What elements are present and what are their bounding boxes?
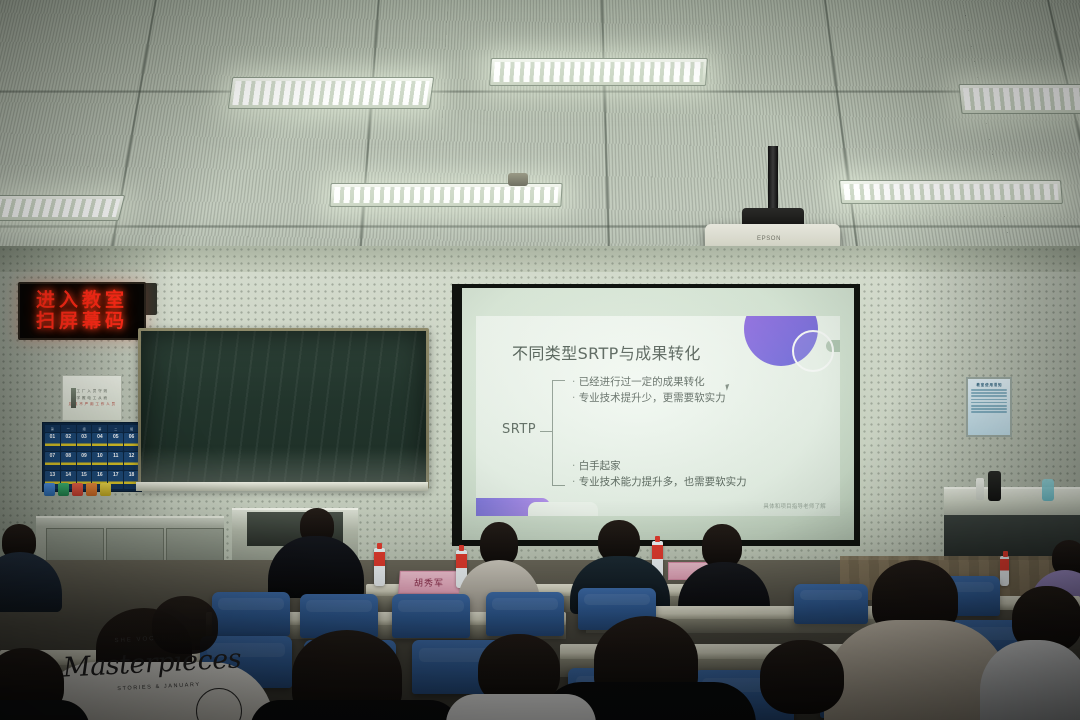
- smoke-detector-icon: [508, 173, 528, 186]
- pocket-header-cell: 一: [61, 425, 76, 432]
- pocket-slot: 06: [124, 433, 139, 451]
- wall-notice-board: 教 室 使 用 须 知: [966, 377, 1012, 437]
- name-card: 胡秀军: [398, 571, 460, 594]
- bottle-yellow: [100, 483, 111, 496]
- ceiling-light-5: [329, 183, 562, 207]
- classroom-chair[interactable]: [794, 584, 868, 624]
- projection-screen: 不同类型SRTP与成果转化 SRTP 已经进行过一定的成果转化 专业技术提升少，…: [462, 288, 854, 540]
- water-bottle: [374, 548, 385, 586]
- slide-brace: [552, 380, 565, 486]
- pocket-slot: 09: [77, 452, 92, 470]
- blackboard-frame: [138, 328, 429, 489]
- bottle-blue: [44, 483, 55, 496]
- pocket-slot: 05: [108, 433, 123, 451]
- pocket-chart-row: 01 02 03 04 05 06: [45, 433, 139, 451]
- notice-line: [971, 395, 1007, 397]
- pocket-slot: 03: [77, 433, 92, 451]
- poster-line-1: 工 厂 入 员 守 则: [77, 388, 108, 395]
- pocket-slot: 07: [45, 452, 60, 470]
- led-scroll-sign: 进入教室 扫屏幕码: [18, 282, 146, 340]
- ceiling-light-6: [839, 180, 1063, 204]
- wall-poster-small: 工 厂 入 员 守 则 学 照 电 工 从 而 见 其 不 严 用 工 作 人 …: [62, 375, 122, 421]
- slide-bullet-group-bottom: 白手起家 专业技术能力提升多，也需要软实力: [572, 458, 747, 491]
- pocket-chart-header: 第 一 组 第 二 组: [45, 425, 139, 432]
- notice-line: [971, 405, 1007, 407]
- person-head: [760, 640, 844, 714]
- poster-figure-icon: [71, 388, 76, 408]
- slide-bullet: 专业技术能力提升多，也需要软实力: [572, 474, 747, 490]
- person-head: [152, 596, 218, 654]
- pocket-slot: 08: [61, 452, 76, 470]
- notice-line: [971, 408, 1007, 410]
- slide-bullet: 已经进行过一定的成果转化: [572, 374, 726, 390]
- classroom-chair[interactable]: [486, 592, 564, 636]
- pocket-slot: 02: [61, 433, 76, 451]
- pocket-slot: 04: [92, 433, 107, 451]
- ceiling-light-3: [958, 84, 1080, 114]
- slide-bullet-group-top: 已经进行过一定的成果转化 专业技术提升少，更需要软实力: [572, 374, 726, 407]
- thermos-flask: [988, 471, 1001, 501]
- bottle-red: [72, 483, 83, 496]
- pocket-header-cell: 组: [124, 425, 139, 432]
- pocket-header-cell: 组: [77, 425, 92, 432]
- ceiling-light-4: [0, 195, 125, 221]
- name-card-text: 胡秀军: [414, 576, 444, 588]
- person-torso: [446, 694, 596, 720]
- classroom-chair[interactable]: [392, 594, 470, 638]
- pocket-chart-row: 07 08 09 10 11 12: [45, 452, 139, 470]
- white-ring-decoration: [792, 330, 834, 372]
- classroom-chair[interactable]: [212, 592, 290, 636]
- projector-brand-label: EPSON: [757, 236, 781, 242]
- notice-line: [971, 411, 1007, 413]
- bottle-row: [44, 478, 140, 496]
- blue-cup: [1042, 479, 1054, 501]
- slide-title: 不同类型SRTP与成果转化: [512, 340, 701, 364]
- white-bar-decoration: [528, 502, 598, 516]
- presentation-slide: 不同类型SRTP与成果转化 SRTP 已经进行过一定的成果转化 专业技术提升少，…: [476, 316, 840, 516]
- water-bottle: [1000, 556, 1009, 586]
- notice-line: [971, 392, 1007, 394]
- led-sign-line-1: 进入教室: [36, 291, 128, 311]
- slide-brace-stem: [540, 431, 553, 432]
- slide-brace-label: SRTP: [502, 422, 536, 437]
- notice-line: [971, 402, 1007, 404]
- notice-line: [971, 399, 1007, 401]
- notice-line: [971, 389, 1007, 391]
- bottle-orange: [86, 483, 97, 496]
- bottle-green: [58, 483, 69, 496]
- notice-title: 教 室 使 用 须 知: [971, 382, 1007, 387]
- pocket-header-cell: 第: [92, 425, 107, 432]
- blackboard: [141, 331, 426, 486]
- slide-footnote: 具体和项目指导老师了解: [763, 502, 826, 510]
- pocket-slot: 01: [45, 433, 60, 451]
- pocket-header-cell: 第: [45, 425, 60, 432]
- pocket-slot: 11: [108, 452, 123, 470]
- ceiling-light-2: [489, 58, 708, 86]
- led-sign-line-2: 扫屏幕码: [36, 312, 128, 332]
- pocket-slot: 12: [124, 452, 139, 470]
- slide-bullet: 白手起家: [572, 458, 747, 474]
- ceiling-light-1: [228, 77, 434, 109]
- pocket-slot: 10: [92, 452, 107, 470]
- mouse-pointer-icon: [725, 383, 733, 391]
- classroom-photo-scene: EPSON 进入教室 扫屏幕码 工 厂 入 员 守 则 学 照 电 工 从 而 …: [0, 0, 1080, 720]
- person-torso: [250, 700, 460, 720]
- chalk-tray: [136, 482, 428, 491]
- slide-bullet: 专业技术提升少，更需要软实力: [572, 390, 726, 406]
- soap-dispenser: [976, 478, 984, 500]
- pocket-header-cell: 二: [108, 425, 123, 432]
- poster-line-2: 学 照 电 工 从 而: [77, 395, 108, 402]
